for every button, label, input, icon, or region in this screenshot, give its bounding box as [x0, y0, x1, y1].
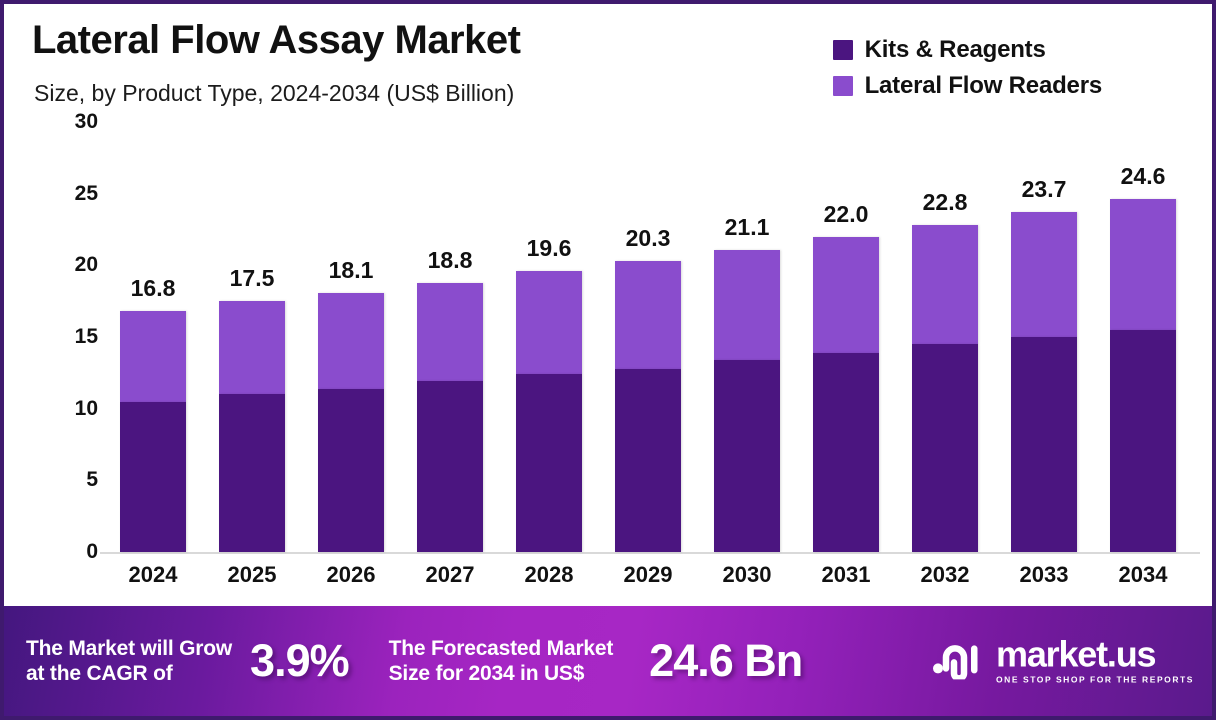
x-axis-tick-label: 2029	[608, 562, 688, 588]
x-axis-tick-label: 2031	[806, 562, 886, 588]
footer-banner: The Market will Grow at the CAGR of 3.9%…	[4, 606, 1212, 716]
bar-segment-kits-and-reagents[interactable]	[1011, 337, 1077, 552]
legend-swatch-icon	[833, 76, 853, 96]
bar-group[interactable]: 16.8	[120, 311, 186, 552]
bar-segment-lateral-flow-readers[interactable]	[714, 250, 780, 360]
legend-item[interactable]: Lateral Flow Readers	[833, 72, 1102, 100]
y-axis-tick-label: 15	[40, 325, 98, 349]
x-axis-tick-label: 2032	[905, 562, 985, 588]
forecast-caption-line-1: The Forecasted Market	[389, 636, 614, 661]
legend-item-label: Kits & Reagents	[865, 36, 1046, 64]
cagr-block: The Market will Grow at the CAGR of 3.9%	[26, 635, 349, 687]
bar-segment-kits-and-reagents[interactable]	[615, 369, 681, 552]
y-axis-tick-label: 20	[40, 253, 98, 277]
legend-item[interactable]: Kits & Reagents	[833, 36, 1046, 64]
bar-group[interactable]: 23.7	[1011, 212, 1077, 552]
x-axis-tick-label: 2026	[311, 562, 391, 588]
bar-group[interactable]: 18.1	[318, 293, 384, 552]
bar-segment-kits-and-reagents[interactable]	[219, 394, 285, 552]
x-axis: 2024202520262027202820292030203120322033…	[104, 562, 1196, 602]
bar-group[interactable]: 21.1	[714, 250, 780, 552]
market-us-logo-icon	[932, 638, 984, 685]
legend-swatch-icon	[833, 40, 853, 60]
forecast-caption-line-2: Size for 2034 in US$	[389, 661, 614, 686]
x-axis-tick-label: 2024	[113, 562, 193, 588]
bar-total-label: 17.5	[230, 265, 275, 292]
chart-subtitle: Size, by Product Type, 2024-2034 (US$ Bi…	[34, 80, 514, 107]
bar-total-label: 18.1	[329, 257, 374, 284]
bar-segment-lateral-flow-readers[interactable]	[813, 237, 879, 353]
y-axis-tick-label: 25	[40, 182, 98, 206]
bar-segment-lateral-flow-readers[interactable]	[219, 301, 285, 394]
y-axis-tick-label: 0	[40, 540, 98, 564]
chart-legend: Kits & ReagentsLateral Flow Readers	[833, 36, 1102, 100]
bar-total-label: 24.6	[1121, 163, 1166, 190]
bar-total-label: 18.8	[428, 247, 473, 274]
x-axis-tick-label: 2025	[212, 562, 292, 588]
y-axis-tick-label: 10	[40, 397, 98, 421]
bar-segment-lateral-flow-readers[interactable]	[1110, 199, 1176, 329]
page-title: Lateral Flow Assay Market	[32, 18, 520, 63]
bar-segment-kits-and-reagents[interactable]	[318, 389, 384, 552]
bar-total-label: 20.3	[626, 225, 671, 252]
bar-group[interactable]: 22.0	[813, 237, 879, 552]
bar-total-label: 21.1	[725, 214, 770, 241]
legend-item-label: Lateral Flow Readers	[865, 72, 1102, 100]
bar-segment-lateral-flow-readers[interactable]	[417, 283, 483, 382]
bar-group[interactable]: 18.8	[417, 283, 483, 552]
bar-segment-lateral-flow-readers[interactable]	[1011, 212, 1077, 337]
y-axis-tick-label: 30	[40, 110, 98, 134]
y-axis: 051015202530	[40, 122, 98, 558]
bar-segment-kits-and-reagents[interactable]	[417, 381, 483, 552]
forecast-value: 24.6 Bn	[649, 635, 802, 687]
bar-segment-kits-and-reagents[interactable]	[1110, 330, 1176, 552]
bar-segment-lateral-flow-readers[interactable]	[912, 225, 978, 344]
infographic-canvas: Lateral Flow Assay Market Size, by Produ…	[0, 0, 1216, 720]
bar-segment-kits-and-reagents[interactable]	[516, 374, 582, 552]
brand-text: market.us ONE STOP SHOP FOR THE REPORTS	[996, 637, 1194, 684]
axis-baseline	[100, 552, 1200, 554]
x-axis-tick-label: 2033	[1004, 562, 1084, 588]
bar-total-label: 22.8	[923, 189, 968, 216]
forecast-caption: The Forecasted Market Size for 2034 in U…	[389, 636, 614, 686]
bar-group[interactable]: 22.8	[912, 225, 978, 552]
bar-group[interactable]: 24.6	[1110, 199, 1176, 552]
bar-segment-lateral-flow-readers[interactable]	[318, 293, 384, 389]
brand-tagline: ONE STOP SHOP FOR THE REPORTS	[996, 675, 1194, 685]
bar-segment-kits-and-reagents[interactable]	[120, 402, 186, 553]
bar-segment-lateral-flow-readers[interactable]	[120, 311, 186, 401]
x-axis-tick-label: 2027	[410, 562, 490, 588]
bar-segment-lateral-flow-readers[interactable]	[615, 261, 681, 369]
bar-segment-lateral-flow-readers[interactable]	[516, 271, 582, 374]
bar-total-label: 22.0	[824, 201, 869, 228]
x-axis-tick-label: 2028	[509, 562, 589, 588]
bar-segment-kits-and-reagents[interactable]	[912, 344, 978, 552]
y-axis-tick-label: 5	[40, 468, 98, 492]
bars-container: 16.817.518.118.819.620.321.122.022.823.7…	[104, 122, 1196, 552]
cagr-caption-line-1: The Market will Grow	[26, 636, 232, 661]
cagr-caption: The Market will Grow at the CAGR of	[26, 636, 232, 686]
plot-area: 051015202530 16.817.518.118.819.620.321.…	[4, 122, 1212, 606]
forecast-block: The Forecasted Market Size for 2034 in U…	[389, 635, 803, 687]
bar-group[interactable]: 17.5	[219, 301, 285, 552]
cagr-caption-line-2: at the CAGR of	[26, 661, 232, 686]
bar-group[interactable]: 20.3	[615, 261, 681, 552]
bar-segment-kits-and-reagents[interactable]	[813, 353, 879, 552]
brand-logo: market.us ONE STOP SHOP FOR THE REPORTS	[932, 637, 1194, 684]
x-axis-tick-label: 2034	[1103, 562, 1183, 588]
bar-total-label: 16.8	[131, 275, 176, 302]
bar-total-label: 19.6	[527, 235, 572, 262]
x-axis-tick-label: 2030	[707, 562, 787, 588]
brand-name: market.us	[996, 637, 1155, 671]
bar-total-label: 23.7	[1022, 176, 1067, 203]
bar-group[interactable]: 19.6	[516, 271, 582, 552]
cagr-value: 3.9%	[250, 635, 349, 687]
bar-segment-kits-and-reagents[interactable]	[714, 360, 780, 552]
